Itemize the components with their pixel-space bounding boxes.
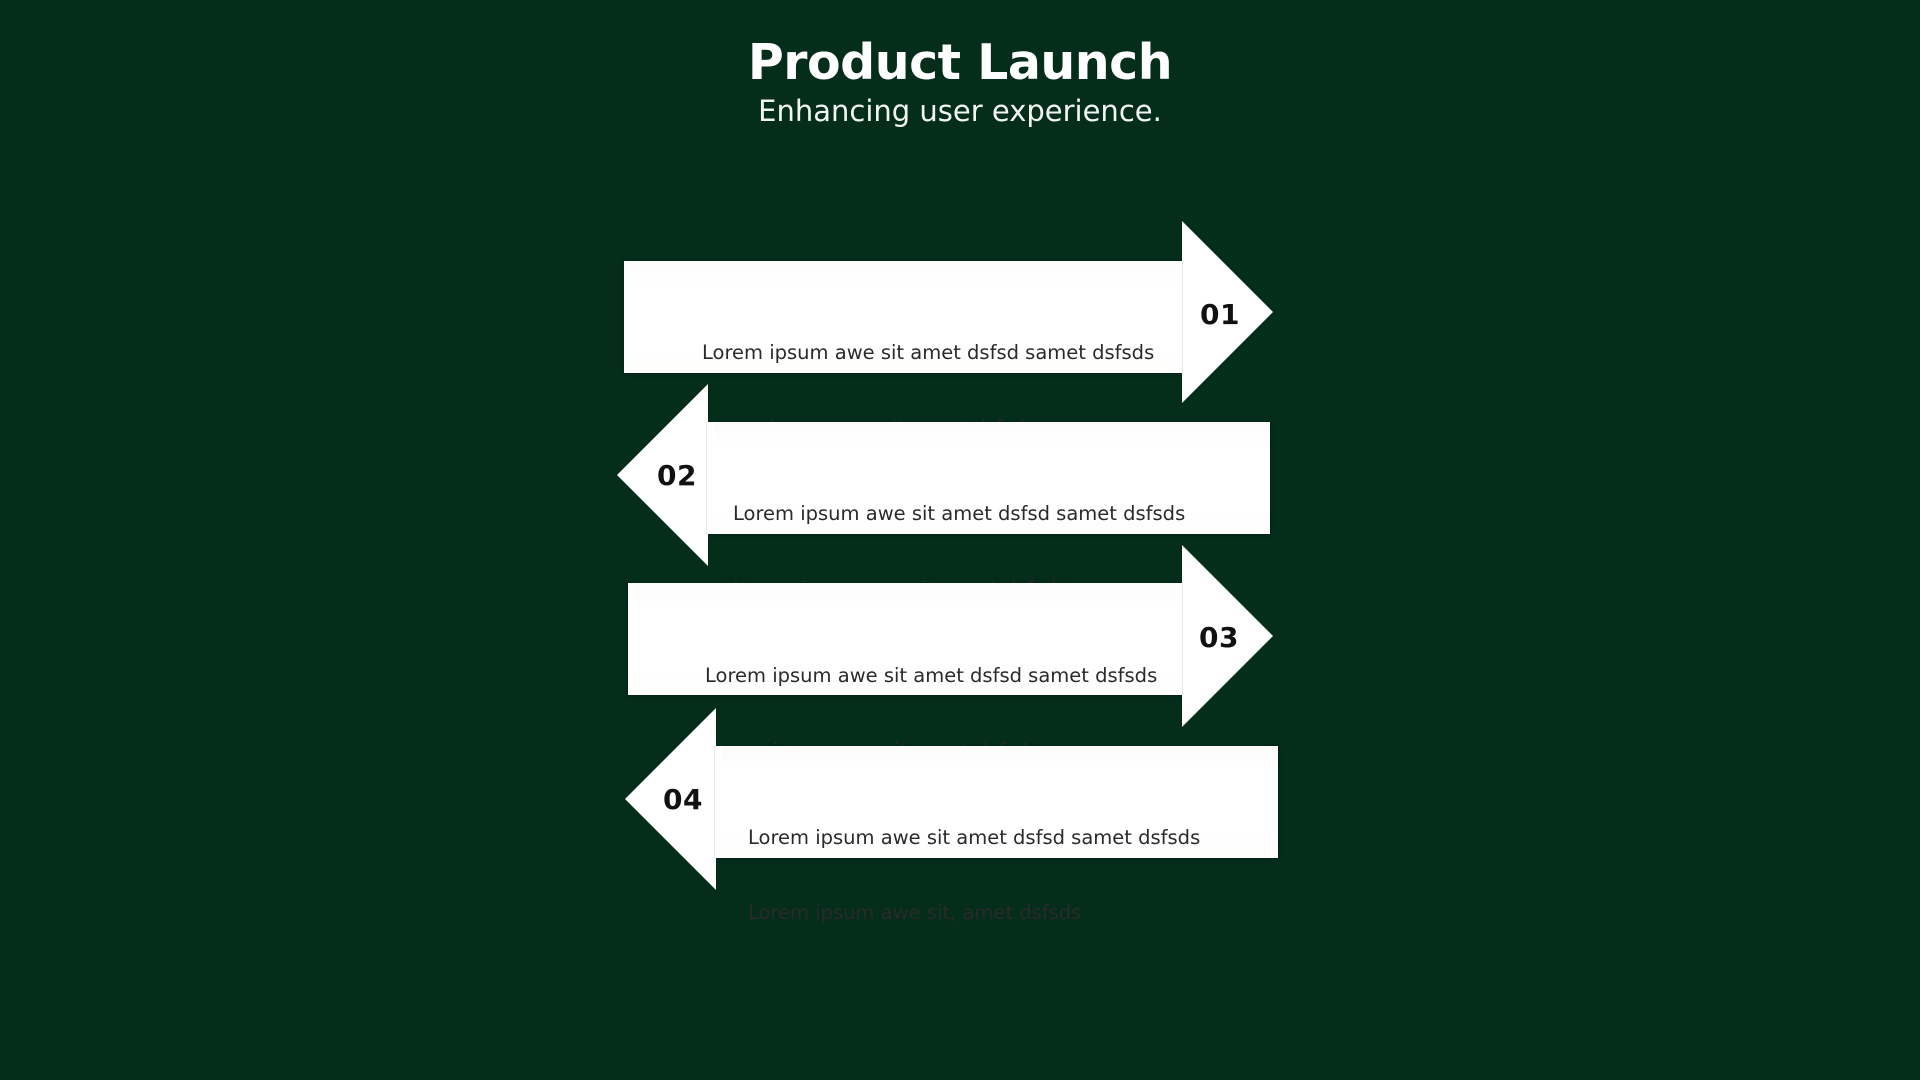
step-number-04: 04: [663, 786, 703, 814]
step-divider-02: [706, 422, 707, 534]
step-text-line1-01: Lorem ipsum awe sit amet dsfsd samet dsf…: [702, 340, 1162, 365]
step-text-line1-03: Lorem ipsum awe sit amet dsfsd samet dsf…: [705, 663, 1165, 688]
step-divider-01: [1182, 261, 1183, 373]
step-divider-03: [1182, 583, 1183, 695]
step-text-line2-04: Lorem ipsum awe sit, amet dsfsds: [748, 900, 1208, 925]
step-divider-04: [714, 746, 715, 858]
step-number-02: 02: [657, 462, 697, 490]
step-text-04: Lorem ipsum awe sit amet dsfsd samet dsf…: [748, 775, 1208, 975]
arrow-joiner-02: [700, 422, 714, 534]
step-text-line1-04: Lorem ipsum awe sit amet dsfsd samet dsf…: [748, 825, 1208, 850]
step-text-line1-02: Lorem ipsum awe sit amet dsfsd samet dsf…: [733, 501, 1193, 526]
arrow-joiner-04: [708, 746, 722, 858]
step-number-03: 03: [1199, 624, 1239, 652]
slide-canvas: Product Launch Enhancing user experience…: [0, 0, 1920, 1080]
page-title: Product Launch: [0, 38, 1920, 87]
step-number-01: 01: [1200, 301, 1240, 329]
page-subtitle: Enhancing user experience.: [0, 94, 1920, 129]
